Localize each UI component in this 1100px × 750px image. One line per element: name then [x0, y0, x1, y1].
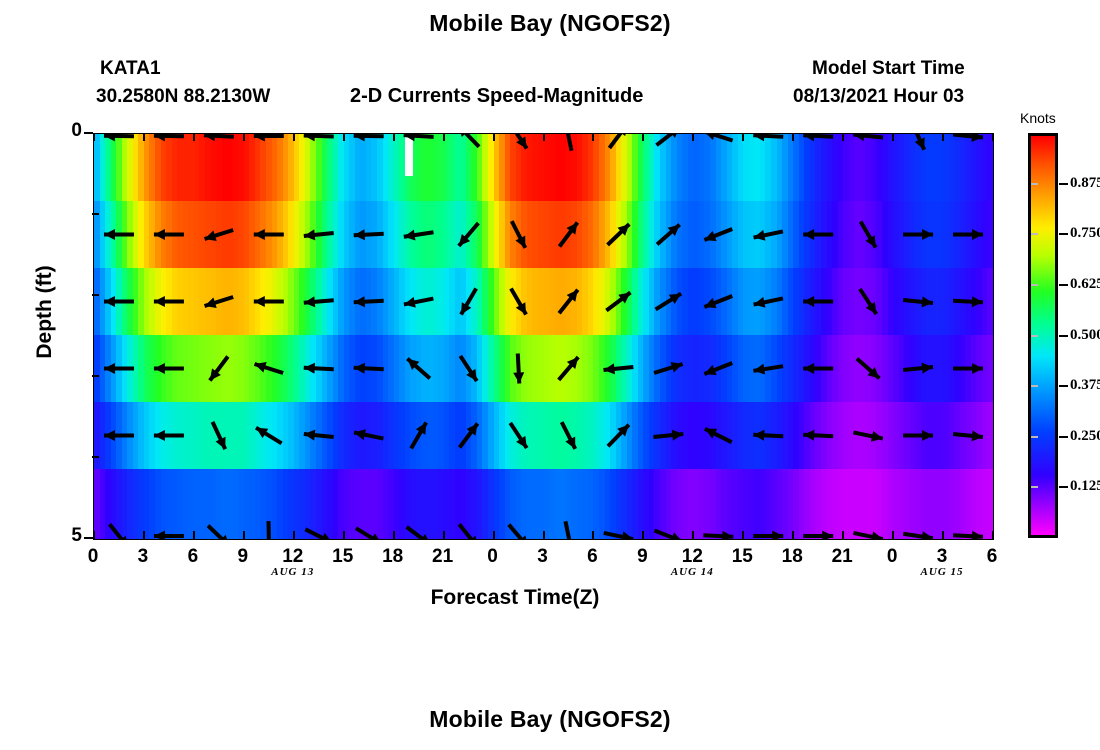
current-vector-arrow — [509, 525, 528, 540]
colorbar-tick — [1059, 233, 1068, 235]
current-vector-arrow — [411, 423, 426, 449]
current-vector-arrow — [953, 229, 983, 240]
current-vector-arrow — [210, 357, 228, 381]
current-vector-arrow — [254, 296, 284, 307]
current-vector-arrow — [704, 133, 733, 141]
x-axis-title: Forecast Time(Z) — [0, 586, 1030, 610]
x-tick-label: 0 — [73, 546, 113, 568]
current-vector-arrow — [657, 225, 680, 245]
x-tick-label: 21 — [423, 546, 463, 568]
current-vector-arrow — [205, 297, 234, 308]
current-vector-arrow — [754, 297, 783, 308]
current-vector-arrow — [510, 133, 526, 149]
current-vector-arrow — [354, 133, 384, 141]
y-tick-label: 0 — [60, 120, 82, 142]
current-vector-arrow — [254, 229, 284, 240]
current-vector-arrow — [213, 422, 226, 449]
colorbar-tick-inner — [1031, 284, 1038, 286]
current-vector-arrow — [953, 133, 983, 142]
page-title: Mobile Bay (NGOFS2) — [0, 10, 1100, 37]
current-vector-arrow — [857, 359, 880, 379]
colorbar-tick-label: 0.375 — [1070, 377, 1100, 394]
plot-subtitle: 2-D Currents Speed-Magnitude — [350, 85, 643, 108]
colorbar-tick-label: 0.125 — [1070, 478, 1100, 495]
current-vector-arrow — [606, 293, 630, 311]
current-vector-arrow — [903, 430, 933, 441]
current-vector-arrow — [154, 229, 184, 240]
current-vector-arrow — [803, 133, 833, 141]
current-vector-arrow — [154, 430, 184, 441]
current-vector-arrow — [657, 133, 681, 145]
current-vector-arrow — [104, 363, 134, 374]
current-vector-arrow — [110, 524, 129, 540]
current-vector-arrow — [753, 430, 783, 441]
x-tick-label: 6 — [173, 546, 213, 568]
x-tick-label: 18 — [373, 546, 413, 568]
current-vector-arrow — [304, 296, 334, 307]
current-vector-arrow — [608, 425, 629, 447]
x-tick-label: 21 — [822, 546, 862, 568]
current-vector-arrow — [461, 289, 476, 315]
colorbar-tick-inner — [1031, 335, 1038, 337]
current-vector-arrow — [460, 424, 478, 448]
current-vector-arrow — [460, 356, 476, 381]
current-vector-arrow — [354, 363, 384, 374]
colorbar-tick — [1059, 385, 1068, 387]
colorbar-tick-label: 0.500 — [1070, 327, 1100, 344]
current-vector-arrow — [407, 359, 430, 379]
current-vector-arrow — [754, 230, 783, 241]
colorbar-tick-inner — [1031, 183, 1038, 185]
current-vector-arrow — [564, 521, 575, 540]
current-vector-arrow — [903, 229, 933, 240]
current-vector-arrow — [154, 296, 184, 307]
current-vector-arrow — [604, 531, 633, 540]
current-vector-arrow — [803, 296, 833, 307]
current-vector-arrow — [404, 230, 434, 241]
current-vector-arrow — [459, 223, 478, 246]
colorbar-tick-label: 0.250 — [1070, 428, 1100, 445]
current-vector-arrow — [511, 289, 526, 315]
current-vector-arrow — [562, 422, 576, 449]
current-vector-arrow — [204, 133, 234, 141]
x-tick-label: 15 — [323, 546, 363, 568]
current-vector-arrow — [354, 229, 384, 240]
current-vector-arrow — [205, 230, 234, 241]
x-tick-label: 0 — [872, 546, 912, 568]
colorbar-tick — [1059, 183, 1068, 185]
current-vector-arrow — [853, 133, 883, 141]
current-vector-arrow — [704, 229, 732, 241]
current-vector-arrow — [354, 296, 384, 307]
current-vector-arrow — [255, 362, 284, 373]
current-vector-arrow — [559, 357, 578, 380]
x-tick-label: 3 — [523, 546, 563, 568]
current-vector-arrow — [656, 294, 681, 310]
current-vector-arrow — [803, 229, 833, 240]
current-vector-arrow — [458, 133, 479, 147]
y-tick-label: 5 — [60, 525, 82, 547]
current-vector-arrow — [208, 526, 230, 540]
x-tick-label: 12 — [273, 546, 313, 568]
current-vector-arrow — [608, 224, 630, 245]
current-vector-arrow — [803, 531, 833, 541]
current-vector-arrow — [354, 429, 383, 440]
current-vector-arrow — [609, 133, 627, 148]
model-start-time-label: Model Start Time — [812, 58, 965, 80]
current-vector-arrow — [459, 524, 478, 540]
current-vector-arrow — [305, 529, 332, 540]
current-vector-arrow — [704, 363, 732, 375]
current-vector-arrow — [154, 363, 184, 374]
current-vector-arrow — [404, 133, 434, 141]
colorbar-units-label: Knots — [1020, 110, 1056, 126]
current-vector-arrow — [654, 530, 682, 540]
current-vector-arrow — [853, 531, 882, 540]
x-tick-label: 3 — [123, 546, 163, 568]
current-vector-arrow — [256, 428, 282, 444]
heatmap-plot-area — [93, 133, 994, 540]
current-vector-arrow — [803, 363, 833, 374]
colorbar-tick-inner — [1031, 436, 1038, 438]
current-vector-arrow — [803, 430, 833, 441]
colorbar-tick-label: 0.875 — [1070, 175, 1100, 192]
station-coordinates-label: 30.2580N 88.2130W — [96, 86, 270, 108]
current-vector-arrow — [903, 296, 933, 307]
date-label: AUG 14 — [652, 566, 732, 578]
x-tick-label: 9 — [622, 546, 662, 568]
colorbar-tick-label: 0.750 — [1070, 225, 1100, 242]
current-vector-arrow — [104, 133, 134, 141]
current-vector-arrow — [753, 133, 783, 141]
date-label: AUG 13 — [253, 566, 333, 578]
colorbar-tick — [1059, 284, 1068, 286]
current-vector-arrow — [104, 229, 134, 240]
x-tick-label: 6 — [572, 546, 612, 568]
current-vector-arrow — [559, 290, 578, 313]
y-tick-major — [84, 537, 93, 539]
x-tick-label: 12 — [672, 546, 712, 568]
y-axis-title: Depth (ft) — [33, 232, 57, 392]
x-tick-label: 6 — [972, 546, 1012, 568]
x-tick-label: 0 — [473, 546, 513, 568]
current-vector-arrow — [953, 296, 983, 307]
colorbar-tick-inner — [1031, 385, 1038, 387]
current-vector-arrow — [853, 431, 882, 442]
current-vector-arrow — [603, 363, 633, 374]
current-vector-arrow — [912, 133, 925, 150]
current-vector-arrow — [263, 521, 274, 540]
colorbar-tick — [1059, 436, 1068, 438]
current-vector-arrow — [653, 430, 683, 441]
current-vector-arrow — [510, 423, 526, 448]
current-vector-arrow — [304, 229, 334, 240]
current-vector-arrow — [705, 429, 732, 442]
station-id-label: KATA1 — [100, 58, 161, 80]
current-vector-arrow — [903, 531, 933, 540]
current-vector-arrow — [407, 527, 431, 540]
current-vector-arrows — [94, 134, 993, 539]
colorbar-tick-label: 0.625 — [1070, 276, 1100, 293]
current-vector-arrow — [860, 289, 876, 314]
current-vector-arrow — [703, 531, 733, 540]
x-tick-label: 3 — [922, 546, 962, 568]
current-vector-arrow — [304, 133, 334, 141]
current-vector-arrow — [654, 362, 683, 373]
current-vector-arrow — [304, 430, 334, 441]
current-vector-arrow — [562, 133, 573, 151]
current-vector-arrow — [404, 297, 433, 308]
colorbar-tick-inner — [1031, 486, 1038, 488]
current-vector-arrow — [704, 296, 732, 308]
current-vector-arrow — [254, 133, 284, 142]
x-tick-label: 18 — [772, 546, 812, 568]
current-vector-arrow — [104, 430, 134, 441]
colorbar-tick-inner — [1031, 233, 1038, 235]
current-vector-arrow — [154, 133, 184, 141]
current-vector-arrow — [104, 296, 134, 307]
colorbar-tick — [1059, 486, 1068, 488]
colorbar-tick — [1059, 335, 1068, 337]
current-vector-arrow — [753, 364, 783, 375]
current-vector-arrow — [861, 222, 876, 248]
y-tick-major — [84, 132, 93, 134]
current-vector-arrow — [559, 223, 577, 247]
current-vector-arrow — [356, 528, 382, 540]
x-tick-label: 9 — [223, 546, 263, 568]
footer-title: Mobile Bay (NGOFS2) — [0, 706, 1100, 733]
chart-canvas: Mobile Bay (NGOFS2) KATA1 30.2580N 88.21… — [0, 0, 1100, 750]
current-vector-arrow — [903, 363, 933, 374]
date-label: AUG 15 — [902, 566, 982, 578]
current-vector-arrow — [953, 363, 983, 374]
current-vector-arrow — [513, 354, 524, 384]
x-tick-label: 15 — [722, 546, 762, 568]
current-vector-arrow — [304, 363, 334, 374]
current-vector-arrow — [753, 531, 783, 541]
current-vector-arrow — [512, 221, 526, 248]
current-vector-arrow — [953, 531, 983, 540]
model-start-time-value: 08/13/2021 Hour 03 — [793, 86, 964, 108]
current-vector-arrow — [154, 531, 184, 541]
current-vector-arrow — [953, 430, 983, 441]
